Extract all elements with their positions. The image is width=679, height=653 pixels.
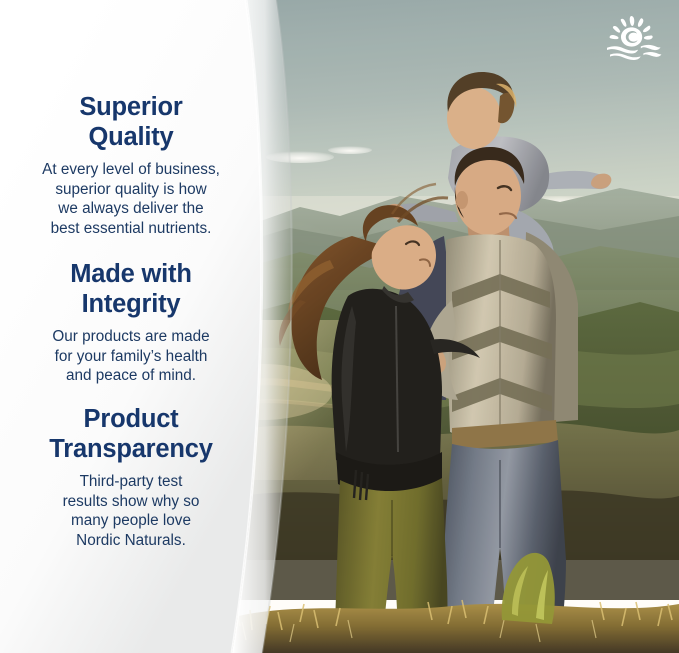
body-line: results show why so [0,492,262,512]
block-body: Third-party test results show why so man… [0,472,262,552]
block-body: Our products are made for your family’s … [0,327,262,387]
block-heading: Made with Integrity [0,260,262,320]
value-block-made-with-integrity: Made with Integrity Our products are mad… [0,260,262,386]
body-line: Our products are made [0,327,262,347]
value-block-product-transparency: Product Transparency Third-party test re… [0,405,262,551]
heading-line: Superior [0,93,262,123]
heading-line: Quality [0,123,262,153]
block-heading: Superior Quality [0,93,262,153]
body-line: we always deliver the [0,199,262,219]
body-line: superior quality is how [0,180,262,200]
heading-line: Made with [0,260,262,290]
heading-line: Integrity [0,290,262,320]
value-propositions: Superior Quality At every level of busin… [0,0,262,653]
heading-line: Product [0,405,262,435]
value-block-superior-quality: Superior Quality At every level of busin… [0,93,262,239]
body-line: best essential nutrients. [0,219,262,239]
block-heading: Product Transparency [0,405,262,465]
body-line: Nordic Naturals. [0,531,262,551]
body-line: At every level of business, [0,160,262,180]
body-line: Third-party test [0,472,262,492]
heading-line: Transparency [0,435,262,465]
block-body: At every level of business, superior qua… [0,160,262,240]
promo-banner: Superior Quality At every level of busin… [0,0,679,653]
nordic-naturals-sun-waves-logo-icon [604,14,662,60]
body-line: for your family’s health [0,347,262,367]
body-line: many people love [0,511,262,531]
body-line: and peace of mind. [0,366,262,386]
